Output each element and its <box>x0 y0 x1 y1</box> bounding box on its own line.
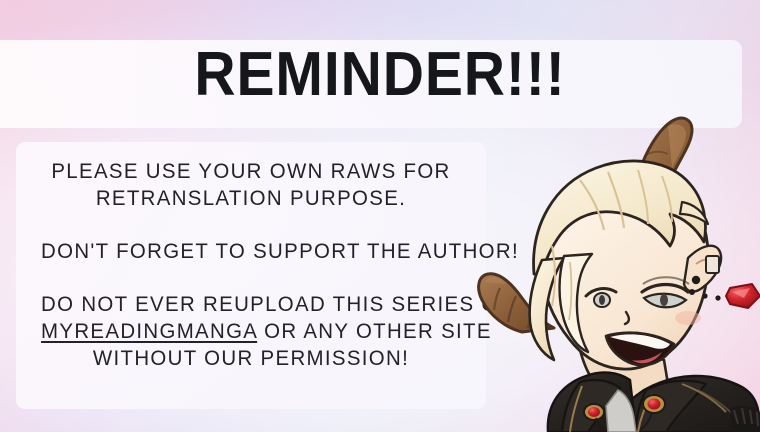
notice-line: RETRANSLATION PURPOSE. <box>41 185 461 212</box>
black-jacket <box>548 373 760 432</box>
notice-line-remainder: OR ANY OTHER SITE <box>257 319 492 343</box>
notice-line: WITHOUT OUR PERMISSION! <box>41 345 461 372</box>
blush <box>675 311 701 325</box>
face <box>542 174 708 369</box>
red-gem-button-left <box>584 404 606 430</box>
mouth <box>606 312 674 365</box>
pointed-ear <box>684 246 721 292</box>
ear-cuff-earring <box>692 256 719 284</box>
notice-line-with-site: MYREADINGMANGA OR ANY OTHER SITE <box>41 318 461 345</box>
eyes <box>586 277 689 307</box>
notice-paragraph-support: DON'T FORGET TO SUPPORT THE AUTHOR! <box>41 238 461 265</box>
blond-hair <box>530 161 708 360</box>
notice-panel: PLEASE USE YOUR OWN RAWS FOR RETRANSLATI… <box>16 142 486 409</box>
right-horn <box>626 118 692 262</box>
red-gem-earring <box>689 284 760 308</box>
notice-paragraph-raws: PLEASE USE YOUR OWN RAWS FOR RETRANSLATI… <box>41 158 461 212</box>
notice-paragraph-reupload: DO NOT EVER REUPLOAD THIS SERIES ON MYRE… <box>41 291 461 372</box>
red-gem-button-right <box>640 395 665 430</box>
site-name: MYREADINGMANGA <box>41 319 257 343</box>
notice-line: DO NOT EVER REUPLOAD THIS SERIES ON <box>41 291 461 318</box>
notice-line: PLEASE USE YOUR OWN RAWS FOR <box>41 158 461 185</box>
notice-line: DON'T FORGET TO SUPPORT THE AUTHOR! <box>41 238 461 265</box>
page-title: REMINDER!!! <box>30 44 729 106</box>
neck <box>580 328 670 404</box>
reminder-notice-image: REMINDER!!! <box>0 0 760 432</box>
